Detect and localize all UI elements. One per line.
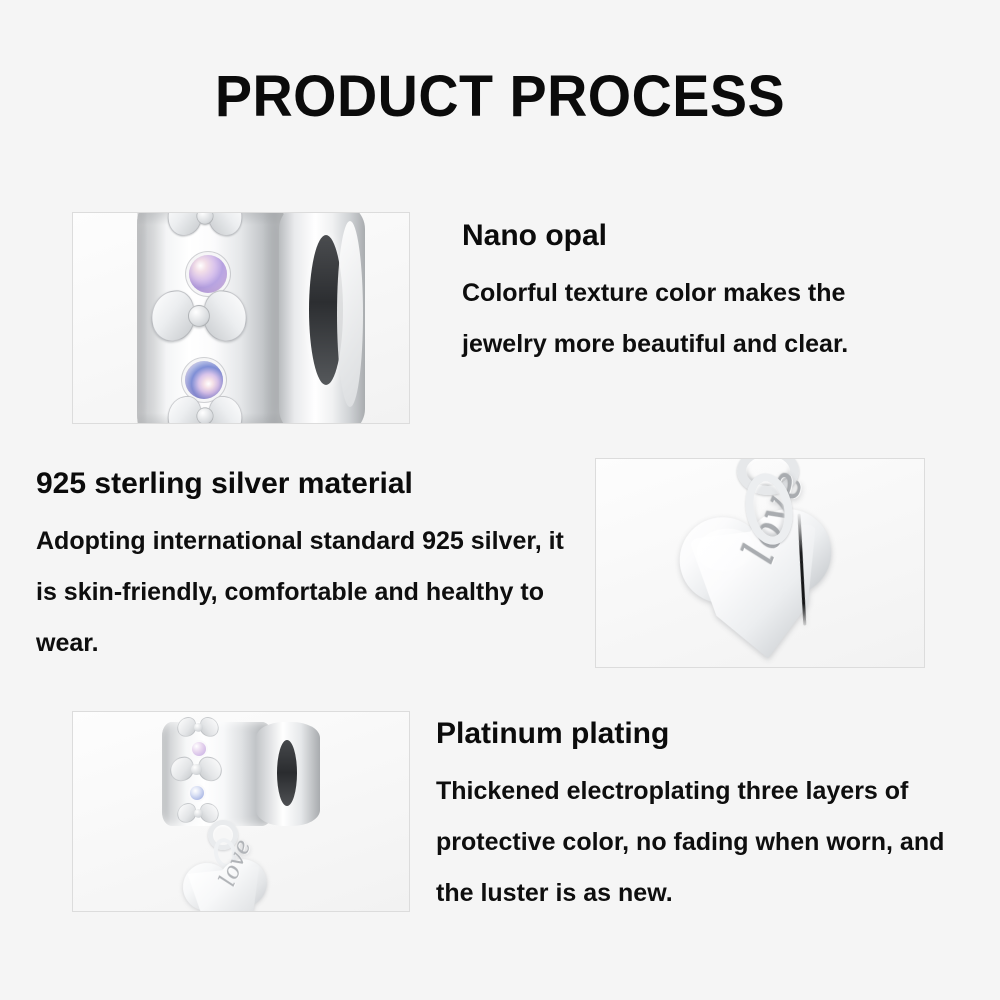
nano-opal-stone-icon	[192, 742, 206, 756]
page-title: PRODUCT PROCESS	[20, 64, 980, 130]
macro-bead-illustration	[73, 213, 409, 423]
product-process-infographic: PRODUCT PROCESS	[0, 0, 1000, 1000]
heart-charm-icon: love	[180, 854, 271, 912]
product-image-nano-opal	[72, 212, 410, 424]
bow-motif-icon	[177, 717, 219, 738]
feature-heading-sterling-silver: 925 sterling silver material	[36, 466, 576, 502]
feature-text-platinum-plating: Platinum plating Thickened electroplatin…	[436, 716, 946, 919]
bow-knot	[194, 723, 203, 732]
feature-heading-platinum-plating: Platinum plating	[436, 716, 946, 752]
product-image-full-charm: love	[72, 711, 410, 912]
nano-opal-stone-icon	[190, 786, 204, 800]
bow-knot	[191, 764, 202, 775]
charm-assembly: love	[146, 722, 336, 912]
feature-body-platinum-plating: Thickened electroplating three layers of…	[436, 766, 946, 919]
bow-knot	[194, 809, 203, 818]
nano-opal-stone-icon	[189, 255, 227, 293]
bow-motif-icon	[168, 395, 243, 424]
feature-text-sterling-silver: 925 sterling silver material Adopting in…	[36, 466, 576, 669]
feature-text-nano-opal: Nano opal Colorful texture color makes t…	[462, 218, 914, 370]
feature-body-sterling-silver: Adopting international standard 925 silv…	[36, 516, 576, 669]
nano-opal-stone-icon	[185, 361, 223, 399]
bow-motif-icon	[177, 803, 219, 824]
product-image-heart-pendant: love	[595, 458, 925, 668]
feature-heading-nano-opal: Nano opal	[462, 218, 914, 254]
photo-background: love	[73, 712, 409, 911]
bead-bore-hole	[277, 740, 297, 806]
photo-background: love	[596, 459, 924, 667]
photo-background	[73, 213, 409, 423]
bow-motif-icon	[170, 756, 222, 782]
bow-motif-icon	[168, 212, 243, 237]
full-charm-illustration: love	[73, 712, 409, 911]
bead-edge-highlight	[337, 221, 363, 407]
bow-motif-icon	[151, 289, 247, 343]
feature-body-nano-opal: Colorful texture color makes the jewelry…	[462, 268, 914, 370]
bow-knot	[188, 305, 210, 327]
heart-pendant-illustration: love	[596, 459, 924, 667]
bow-knot	[196, 407, 213, 424]
